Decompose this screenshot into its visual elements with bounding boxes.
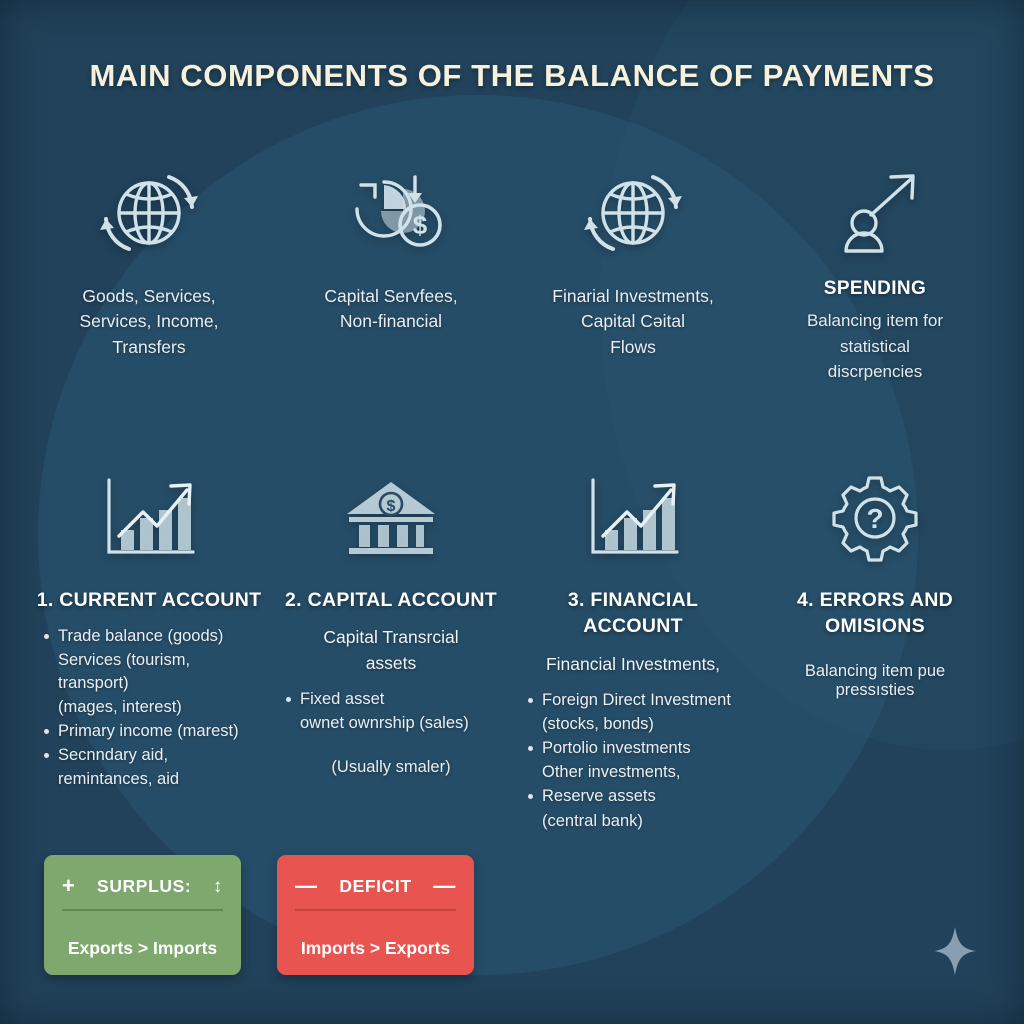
deficit-badge-header: — DEFICIT —	[295, 875, 456, 911]
list-item: remintances, aid	[58, 768, 262, 790]
bottom-column-4: ? 4. ERRORS AND OMISIONS Balancing item …	[754, 465, 996, 834]
list-item: Reserve assets	[542, 785, 746, 807]
top-column-1: Goods, Services,Services, Income,Transfe…	[28, 160, 270, 385]
bullet-list-3: Foreign Direct Investment (stocks, bonds…	[520, 689, 746, 834]
balance-badges: + SURPLUS: ↕ Exports > Imports — DEFICIT…	[44, 855, 474, 975]
bottom-column-2: $ 2. CAPITAL ACCOUNT Capital Transrciala…	[270, 465, 512, 834]
up-down-arrow-icon: ↕	[213, 877, 223, 896]
globe-exchange-icon	[93, 160, 205, 266]
pie-chart-dollar-icon: $	[335, 160, 447, 266]
list-item: Other investments,	[542, 761, 746, 783]
surplus-badge-header: + SURPLUS: ↕	[62, 875, 223, 911]
top-row: Goods, Services,Services, Income,Transfe…	[28, 160, 996, 385]
bottom-row: 1. CURRENT ACCOUNT Trade balance (goods)…	[28, 465, 996, 834]
person-growth-arrow-icon	[819, 160, 931, 266]
plus-icon: +	[62, 875, 75, 897]
list-item: Services (tourism, transport)	[58, 649, 262, 693]
minus-icon: —	[295, 875, 318, 897]
section-heading-1: 1. CURRENT ACCOUNT	[37, 587, 262, 613]
list-item: Fixed asset	[300, 688, 504, 710]
list-item: Secnndary aid,	[58, 744, 262, 766]
top-caption-3: Finarial Investments,Capital CəitalFlows	[552, 284, 713, 360]
section-subtitle-3: Financial Investments,	[546, 652, 720, 677]
list-item: Trade balance (goods)	[58, 625, 262, 647]
section-heading-4: 4. ERRORS AND OMISIONS	[762, 587, 988, 640]
list-item: Portolio investments	[542, 737, 746, 759]
top-column-4: SPENDING Balancing item forstatisticaldi…	[754, 160, 996, 385]
list-item: (mages, interest)	[58, 696, 262, 718]
list-item: (stocks, bonds)	[542, 713, 746, 735]
top-column-2: $ Capital Servfees,Non-financial	[270, 160, 512, 385]
section-heading-3: 3. FINANCIAL ACCOUNT	[520, 587, 746, 640]
minus-icon-trailing: —	[433, 875, 456, 897]
list-item: ownet ownrship (sales)	[300, 712, 504, 734]
bar-chart-growth-icon	[97, 465, 201, 571]
surplus-badge[interactable]: + SURPLUS: ↕ Exports > Imports	[44, 855, 241, 975]
top-column-3: Finarial Investments,Capital CəitalFlows	[512, 160, 754, 385]
svg-text:?: ?	[866, 503, 883, 534]
list-item: (central bank)	[542, 810, 746, 832]
section-subtitle-2: Capital Transrcialassets	[323, 625, 458, 676]
bank-dollar-icon: $	[339, 465, 443, 571]
globe-exchange-icon	[577, 160, 689, 266]
svg-text:$: $	[387, 498, 396, 515]
spending-heading: SPENDING	[824, 278, 926, 300]
bottom-column-3: 3. FINANCIAL ACCOUNT Financial Investmen…	[512, 465, 754, 834]
surplus-label: SURPLUS:	[75, 876, 212, 897]
bottom-column-1: 1. CURRENT ACCOUNT Trade balance (goods)…	[28, 465, 270, 834]
bullet-list-2: Fixed asset ownet ownrship (sales)	[278, 688, 504, 736]
page-title: MAIN COMPONENTS OF THE BALANCE OF PAYMEN…	[0, 58, 1024, 94]
list-item: Primary income (marest)	[58, 720, 262, 742]
svg-text:$: $	[413, 210, 428, 240]
bar-chart-growth-icon	[581, 465, 685, 571]
deficit-footer: Imports > Exports	[295, 928, 456, 959]
infographic-poster: MAIN COMPONENTS OF THE BALANCE OF PAYMEN…	[0, 0, 1024, 1024]
top-caption-1: Goods, Services,Services, Income,Transfe…	[79, 284, 218, 360]
list-item: Foreign Direct Investment	[542, 689, 746, 711]
deficit-label: DEFICIT	[318, 876, 434, 897]
section-note-4: Balancing item puepressısties	[805, 662, 945, 700]
spending-caption: Balancing item forstatisticaldiscrpencie…	[807, 308, 943, 385]
surplus-footer: Exports > Imports	[62, 928, 223, 959]
sparkle-icon	[932, 925, 978, 982]
section-heading-2: 2. CAPITAL ACCOUNT	[285, 587, 497, 613]
bullet-list-1: Trade balance (goods) Services (tourism,…	[36, 625, 262, 792]
deficit-badge[interactable]: — DEFICIT — Imports > Exports	[277, 855, 474, 975]
top-caption-2: Capital Servfees,Non-financial	[324, 284, 457, 335]
gear-question-icon: ?	[823, 465, 927, 571]
section-note-2: (Usually smaler)	[331, 758, 450, 777]
